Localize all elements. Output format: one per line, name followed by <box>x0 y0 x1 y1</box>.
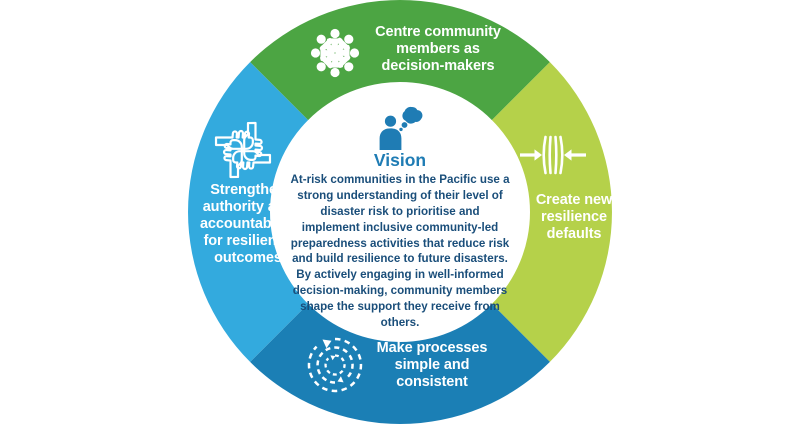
segment-label-line: Make processes <box>377 340 488 356</box>
vision-title: Vision <box>288 151 512 170</box>
segment-label-create-new-resilience-defaults[interactable]: Create new resilience defaults <box>520 192 628 243</box>
segment-label-line: decision-makers <box>382 58 495 74</box>
segment-label-line: authority and <box>203 199 294 215</box>
segment-label-line: defaults <box>547 226 602 242</box>
segment-label-line: Centre community <box>375 24 501 40</box>
segment-label-centre-community-members[interactable]: Centre community members as decision-mak… <box>352 24 524 75</box>
segment-label-line: accountability <box>200 216 296 232</box>
segment-label-line: consistent <box>396 374 468 390</box>
vision-body-text: At-risk communities in the Pacific use a… <box>288 172 512 330</box>
segment-label-line: members as <box>396 41 480 57</box>
vision-centre-panel: Vision At-risk communities in the Pacifi… <box>288 104 512 330</box>
segment-label-make-processes-simple-consistent[interactable]: Make processes simple and consistent <box>352 340 512 391</box>
segment-label-line: Create new <box>536 192 612 208</box>
segment-label-line: simple and <box>395 357 470 373</box>
person-thought-bubble-icon <box>373 104 427 150</box>
segment-label-line: outcomes <box>214 250 282 266</box>
segment-label-line: for resilience <box>204 233 293 249</box>
segment-label-line: resilience <box>541 209 607 225</box>
vision-wheel-diagram: Centre community members as decision-mak… <box>0 0 800 425</box>
segment-label-line: Strengthen <box>210 182 286 198</box>
